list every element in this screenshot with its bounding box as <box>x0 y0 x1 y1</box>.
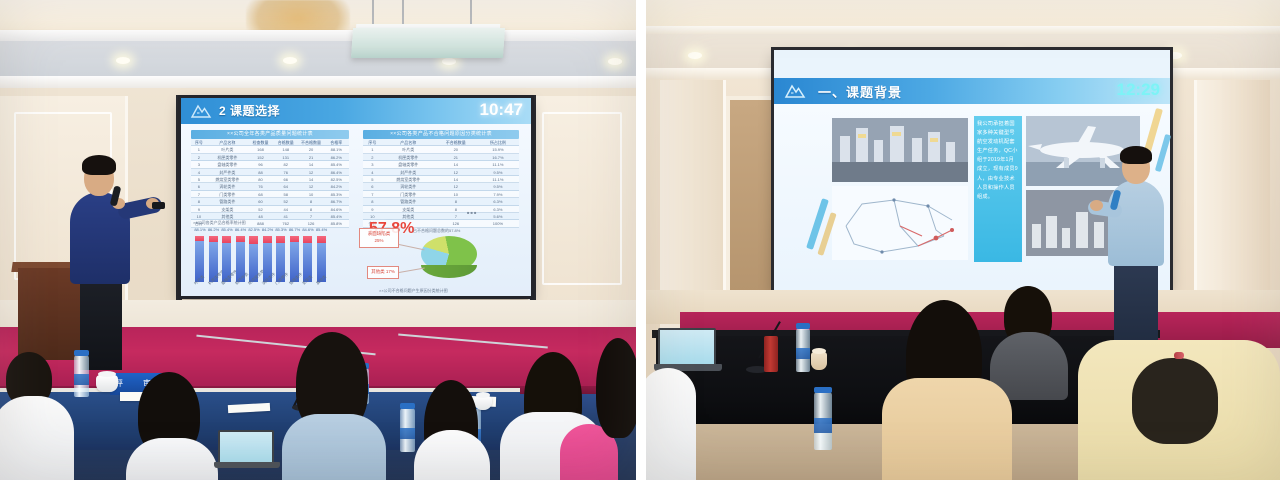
table-row: 8管路类件86.3% <box>363 198 519 205</box>
hair-clip <box>1174 352 1184 359</box>
table-cell: 门类零件 <box>207 191 248 197</box>
two-photo-collage: 2 课题选择 10:47 ××公司全年各类产品质量问题统计表 序号产品名称检查数… <box>0 0 1280 480</box>
table-cell: 80 <box>248 176 273 182</box>
table-cell: 20 <box>298 146 323 152</box>
table-row: 4封严件类88761286.4% <box>191 169 349 176</box>
bottle-cap <box>74 350 89 356</box>
laptop[interactable] <box>658 328 716 366</box>
table-cell: 44 <box>273 206 298 212</box>
table-cell: 涡轮类件 <box>382 183 435 189</box>
bar-segment-defect <box>276 236 285 243</box>
presenter-hair <box>82 155 116 175</box>
slide-body: ××公司全年各类产品质量问题统计表 序号产品名称检查数量合格数量不合格数量合格率… <box>181 124 531 296</box>
table-cell: 88.1% <box>324 146 349 152</box>
audience-member <box>596 338 636 438</box>
table-cell: 7 <box>191 191 207 197</box>
table-cell: 管路类件 <box>207 198 248 204</box>
slide-timer: 10:47 <box>480 100 523 120</box>
table-cell: 盘轴类零件 <box>382 161 435 167</box>
table-cell: 41 <box>273 213 298 219</box>
table-cell: 6 <box>191 183 207 189</box>
table-cell: 76 <box>248 183 273 189</box>
paper-cup[interactable] <box>811 352 827 370</box>
table-cell: 支架类 <box>207 206 248 212</box>
highlight-note: 占不合格问题总数的57.8% <box>413 228 460 234</box>
table-2-header-row: 序号产品名称不合格数量所占比例 <box>363 139 519 146</box>
table-cell: 7 <box>298 213 323 219</box>
table-cell: 84.2% <box>324 183 349 189</box>
table-1-body: 1叶片类1681482088.1%2机匣类零件1521312186.2%3盘轴类… <box>191 146 349 227</box>
table-cell: 148 <box>273 146 298 152</box>
table-cell: 126 <box>298 220 323 226</box>
bottle-label <box>796 348 810 359</box>
table-cell: 14 <box>298 161 323 167</box>
teacup-lid <box>98 371 116 377</box>
pie-chart <box>421 236 477 278</box>
table-cell: 96 <box>248 161 273 167</box>
bottle-cap <box>400 403 415 409</box>
table-cell: 8 <box>298 206 323 212</box>
table-cell: 86.7% <box>324 198 349 204</box>
bar-segment-defect <box>317 236 326 243</box>
teacup[interactable] <box>96 375 118 392</box>
slide-title: 2 课题选择 <box>219 102 280 119</box>
table-cell: 82.5% <box>324 176 349 182</box>
table-cell: 85.3% <box>324 191 349 197</box>
bar-segment-defect <box>249 236 258 244</box>
projector <box>351 28 505 58</box>
table-column-header: 序号 <box>191 139 207 145</box>
downlight-icon <box>442 58 456 65</box>
cup-lid <box>812 348 826 354</box>
water-bottle[interactable] <box>400 408 415 452</box>
bar-segment-defect <box>263 236 272 243</box>
table-cell: 10 <box>435 191 477 197</box>
table-cell: 3 <box>191 161 207 167</box>
audience-member-body <box>646 368 696 480</box>
table-cell: 1 <box>191 146 207 152</box>
bar-segment-defect <box>303 236 312 243</box>
table-column-header: 不合格数量 <box>298 139 323 145</box>
table-cell: 9.5% <box>477 169 519 175</box>
table-cell: 66 <box>273 176 298 182</box>
bar-column: 84.2%涡轮类件 <box>263 236 272 282</box>
pie-chart-title: ××公司不合格问题产生原因分类统计图 <box>379 288 448 294</box>
table-cell: 5 <box>191 176 207 182</box>
table-cell: 64 <box>273 183 298 189</box>
table-cell: 封严件类 <box>382 169 435 175</box>
table-cell: 10 <box>191 213 207 219</box>
table-cell: 21 <box>435 154 477 160</box>
table-row: 9支架类86.3% <box>363 206 519 213</box>
bar-chart: 88.1%叶片类86.2%机匣类零件85.4%盘轴类零件86.4%封严件类82.… <box>195 230 326 282</box>
table-cell: 16.7% <box>477 154 519 160</box>
table-1-header-row: 序号产品名称检查数量合格数量不合格数量合格率 <box>191 139 349 146</box>
table-cell: 封严件类 <box>207 169 248 175</box>
table-cell: 14 <box>298 176 323 182</box>
bar-column: 86.4%封严件类 <box>236 236 245 282</box>
downlight-icon <box>608 58 622 65</box>
table-cell: 管路类件 <box>382 198 435 204</box>
quality-table-1: ××公司全年各类产品质量问题统计表 序号产品名称检查数量合格数量不合格数量合格率… <box>191 130 349 228</box>
bar-column: 85.4%盘轴类零件 <box>222 236 231 282</box>
table-cell: 82 <box>273 161 298 167</box>
table-cell: 14 <box>435 176 477 182</box>
bar-value-label: 85.4% <box>312 227 332 232</box>
laptop[interactable] <box>218 430 274 464</box>
factory-workshop-photo <box>832 118 968 182</box>
projection-screen-left: 2 课题选择 10:47 ××公司全年各类产品质量问题统计表 序号产品名称检查数… <box>181 98 531 296</box>
downlight-icon <box>283 57 297 64</box>
wall-panel-inset <box>542 112 622 285</box>
table-cell: 15.9% <box>477 146 519 152</box>
table-cell: 85.4% <box>324 213 349 219</box>
table-cell: 机匣类零件 <box>382 154 435 160</box>
factory-illustration <box>832 118 968 182</box>
table-cell: 68 <box>248 191 273 197</box>
teacup[interactable] <box>474 396 492 410</box>
table-cell: 12 <box>298 169 323 175</box>
table-column-header: 不合格数量 <box>435 139 477 145</box>
callout-other: 其他类 17% <box>367 266 399 279</box>
projector-rod <box>402 0 404 24</box>
table-column-header: 合格数量 <box>273 139 298 145</box>
bar-column: 82.5%燃烧室类零件 <box>249 236 258 282</box>
table-cell: 7 <box>363 191 382 197</box>
table-cell: 6.3% <box>477 198 519 204</box>
table-cell: 其他类 <box>382 213 435 219</box>
table-cell: 9.5% <box>477 183 519 189</box>
table-cell: 2 <box>191 154 207 160</box>
downlight-icon <box>116 57 130 64</box>
bottle-label <box>74 374 89 385</box>
slide-timer: 12:29 <box>1117 80 1160 100</box>
callout-surface-defect: 表面缺陷类 25% <box>359 228 399 248</box>
bottle-cap <box>814 387 832 393</box>
laptop-base <box>214 462 280 468</box>
flow-diagram <box>832 186 968 260</box>
table-cell: 机匣类零件 <box>207 154 248 160</box>
table-cell: 14 <box>435 161 477 167</box>
bar-column: 86.7%管路类件 <box>290 236 299 282</box>
process-flow-map <box>832 186 968 260</box>
table-row: 3盘轴类零件96821485.4% <box>191 161 349 168</box>
table-cell: 131 <box>273 154 298 160</box>
table-cell: 86.2% <box>324 154 349 160</box>
table-row: 5燃烧室类零件80661482.5% <box>191 176 349 183</box>
table-row: 2机匣类零件2116.7% <box>363 154 519 161</box>
photo-gutter <box>636 0 646 480</box>
bottle-cap <box>796 323 810 329</box>
table-cell: 10 <box>298 191 323 197</box>
table-cell: 盘轴类零件 <box>207 161 248 167</box>
table-cell: 85.4% <box>324 161 349 167</box>
table-cell: 52 <box>273 198 298 204</box>
table-row: 4封严件类129.5% <box>363 169 519 176</box>
table-cell: 叶片类 <box>207 146 248 152</box>
table-row: 7门类零件107.9% <box>363 191 519 198</box>
table-cell: 11.1% <box>477 161 519 167</box>
mountain-logo-icon <box>784 83 806 99</box>
table-cell: 168 <box>248 146 273 152</box>
table-row: 7门类零件68581085.3% <box>191 191 349 198</box>
slide-title: 一、课题背景 <box>818 82 902 101</box>
table-cell: 11.1% <box>477 176 519 182</box>
audience-member-body <box>882 378 1012 480</box>
water-bottle[interactable] <box>796 328 810 372</box>
table-cell: 20 <box>435 146 477 152</box>
pie-side-face <box>421 265 477 278</box>
left-presentation-photo: 2 课题选择 10:47 ××公司全年各类产品质量问题统计表 序号产品名称检查数… <box>0 0 636 480</box>
table-row: 6涡轮类件76641284.2% <box>191 183 349 190</box>
table-row: 1叶片类1681482088.1% <box>191 146 349 153</box>
table-cell: 3 <box>363 161 382 167</box>
table-cell: 8 <box>363 198 382 204</box>
tshirt-graphic <box>1132 358 1218 444</box>
table-cell: 52 <box>248 206 273 212</box>
table-cell: 100% <box>477 220 519 226</box>
bottle-label <box>814 418 832 433</box>
mountain-logo-icon <box>190 103 212 119</box>
table-column-header: 检查数量 <box>248 139 273 145</box>
bar-segment-defect <box>222 236 231 243</box>
table-column-header: 序号 <box>363 139 382 145</box>
table-cell: 12 <box>298 183 323 189</box>
table-cell: 4 <box>191 169 207 175</box>
bar-column: 85.4%其他类 <box>317 236 326 282</box>
table-cell: 21 <box>298 154 323 160</box>
audience-member-body <box>282 414 386 480</box>
bar-column: 84.6%支架类 <box>303 236 312 282</box>
teacup-lid <box>476 392 490 398</box>
table-cell: 门类零件 <box>382 191 435 197</box>
table-cell: 88 <box>248 169 273 175</box>
bar-column: 85.3%门类零件 <box>276 236 285 282</box>
table-row: 5燃烧室类零件1411.1% <box>363 176 519 183</box>
table-cell: 8 <box>298 198 323 204</box>
table-column-header: 产品名称 <box>382 139 435 145</box>
table-cell: 12 <box>435 169 477 175</box>
audience-member-body <box>0 396 74 480</box>
table-cell: 9 <box>363 206 382 212</box>
table-cell: 2 <box>363 154 382 160</box>
downlight-icon <box>1168 52 1182 59</box>
table-cell: 6.3% <box>477 206 519 212</box>
table-2-body: 1叶片类2015.9%2机匣类零件2116.7%3盘轴类零件1411.1%4封严… <box>363 146 519 227</box>
table-cell: 叶片类 <box>382 146 435 152</box>
table-cell: 762 <box>273 220 298 226</box>
water-bottle[interactable] <box>74 355 89 397</box>
table-row: 2机匣类零件1521312186.2% <box>191 154 349 161</box>
table-cell: 支架类 <box>382 206 435 212</box>
table-cell: 燃烧室类零件 <box>382 176 435 182</box>
table-cell: 86.4% <box>324 169 349 175</box>
table-cell: 76 <box>273 169 298 175</box>
table-column-header: 合格率 <box>324 139 349 145</box>
downlight-icon <box>688 52 702 59</box>
table-row: 8管路类件6052886.7% <box>191 198 349 205</box>
presenter-hand <box>1090 200 1103 211</box>
table-cell: 84.6% <box>324 206 349 212</box>
table-cell: 涡轮类件 <box>207 183 248 189</box>
right-presentation-photo: 一、课题背景 12:29 <box>646 0 1280 480</box>
presenter-hair <box>1120 146 1152 164</box>
table-row: 3盘轴类零件1411.1% <box>363 161 519 168</box>
table-cell: 12 <box>435 183 477 189</box>
table-2-caption: ××公司各类产品不合格问题原因分类统计表 <box>363 130 519 139</box>
table-cell: 126 <box>435 220 477 226</box>
table-cell: 1 <box>363 146 382 152</box>
table-cell: 8 <box>435 198 477 204</box>
table-cell: 152 <box>248 154 273 160</box>
table-1-caption: ××公司全年各类产品质量问题统计表 <box>191 130 349 139</box>
bar-column: 88.1%叶片类 <box>195 236 204 282</box>
quality-table-2: ××公司各类产品不合格问题原因分类统计表 序号产品名称不合格数量所占比例 1叶片… <box>363 130 519 228</box>
table-row: 9支架类5244884.6% <box>191 206 349 213</box>
red-thermos[interactable] <box>764 336 778 372</box>
table-cell: 60 <box>248 198 273 204</box>
table-cell: 48 <box>248 213 273 219</box>
table-cell: 7.9% <box>477 191 519 197</box>
presentation-clicker[interactable] <box>152 202 165 209</box>
table-cell: 4 <box>363 169 382 175</box>
water-bottle[interactable] <box>814 392 832 450</box>
table-cell: 其他类 <box>207 213 248 219</box>
projector-rod <box>470 0 472 26</box>
table-cell: 10 <box>363 213 382 219</box>
background-text-block: 我公司承担着国家多种关键型号航空发动机配套生产任务，QC小组于2019年1月成立… <box>974 116 1022 262</box>
table-cell: 85.8% <box>324 220 349 226</box>
table-cell: 888 <box>248 220 273 226</box>
table-row: 1叶片类2015.9% <box>363 146 519 153</box>
table-cell: 6 <box>363 183 382 189</box>
table-cell: 5 <box>363 176 382 182</box>
table-row: 6涡轮类件129.5% <box>363 183 519 190</box>
bar-column: 86.2%机匣类零件 <box>209 236 218 282</box>
table-column-header: 所占比例 <box>477 139 519 145</box>
table-cell: 5.6% <box>477 213 519 219</box>
table-cell: 58 <box>273 191 298 197</box>
ceiling-panel <box>0 41 636 78</box>
table-column-header: 产品名称 <box>207 139 248 145</box>
bottle-label <box>400 428 415 439</box>
table-cell: 8 <box>191 198 207 204</box>
table-cell: 燃烧室类零件 <box>207 176 248 182</box>
pie-legend: ■ ■ ■ <box>467 210 476 215</box>
bar-chart-title: ××公司各类产品合格率统计图 <box>193 220 246 226</box>
table-cell: 9 <box>191 206 207 212</box>
